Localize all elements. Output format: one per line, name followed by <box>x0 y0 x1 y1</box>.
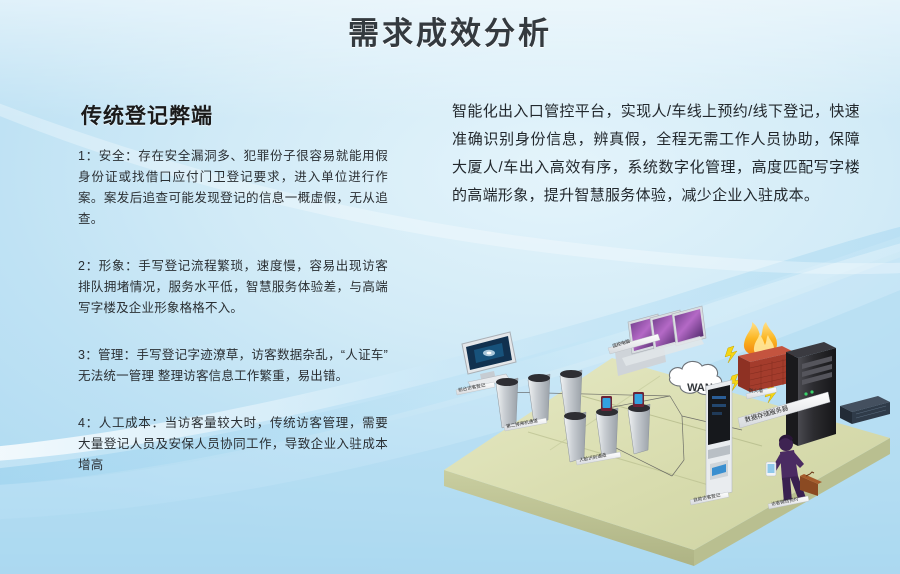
left-column: 传统登记弊端 1：安全：存在安全漏洞多、犯罪份子很容易就能用假身份证或找借口应付… <box>78 100 388 476</box>
page-title: 需求成效分析 <box>0 8 900 53</box>
right-column: 智能化出入口管控平台，实现人/车线上预约/线下登记，快速准确识别身份信息，辨真假… <box>452 98 860 210</box>
self-service-kiosk <box>706 380 732 498</box>
drawback-item-4: 4：人工成本：当访客量较大时，传统访客管理，需要大量登记人员及安保人员协同工作，… <box>78 413 388 476</box>
drawback-item-1: 1：安全：存在安全漏洞多、犯罪份子很容易就能用假身份证或找借口应付门卫登记要求，… <box>78 146 388 230</box>
system-topology-diagram: WAN <box>432 300 900 574</box>
slide-root: 需求成效分析 传统登记弊端 1：安全：存在安全漏洞多、犯罪份子很容易就能用假身份… <box>0 0 900 574</box>
topology-svg: WAN <box>432 300 900 574</box>
solution-paragraph: 智能化出入口管控平台，实现人/车线上预约/线下登记，快速准确识别身份信息，辨真假… <box>452 98 860 210</box>
firewall <box>738 322 794 392</box>
left-column-heading: 传统登记弊端 <box>81 100 388 130</box>
diagram-label-firewall: 防火墙 <box>749 388 763 394</box>
drawback-item-3: 3：管理：手写登记字迹潦草，访客数据杂乱，“人证车”无法统一管理 整理访客信息工… <box>78 345 388 387</box>
drawback-item-2: 2：形象：手写登记流程繁琐，速度慢，容易出现访客排队拥堵情况，服务水平低，智慧服… <box>78 256 388 319</box>
